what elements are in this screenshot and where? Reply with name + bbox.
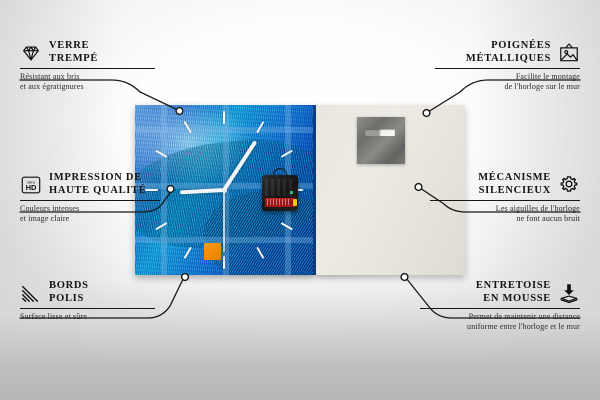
callout-divider (20, 308, 155, 309)
callout-divider (20, 68, 155, 69)
callout-title: VERRE TREMPÉ (49, 40, 98, 65)
callout-header: ENTRETOISE EN MOUSSE (420, 280, 580, 305)
callout-title: MÉCANISME SILENCIEUX (478, 172, 551, 197)
callout-header: BORDS POLIS (20, 280, 155, 305)
clock-center-pin (222, 188, 227, 193)
mechanism-indicator (290, 191, 293, 194)
callout-description: Résistant aux bris et aux égratignures (20, 72, 155, 92)
callout-header: VERRE TREMPÉ (20, 40, 155, 65)
callout-verre-trempe[interactable]: VERRE TREMPÉ Résistant aux bris et aux é… (20, 40, 155, 92)
foam-spacer (204, 243, 221, 260)
ultra-hd-icon: ultra HD (20, 174, 42, 196)
callout-title: BORDS POLIS (49, 280, 89, 305)
callout-poignees-metalliques[interactable]: POIGNÉES MÉTALLIQUES Facilite le montage… (435, 40, 580, 92)
callout-divider (435, 68, 580, 69)
callout-divider (430, 200, 580, 201)
callout-description: Permet de maintenir une distance uniform… (420, 312, 580, 332)
callout-description: Couleurs intenses et image claire (20, 204, 160, 224)
product-image (135, 105, 465, 275)
metal-hanger-plate (357, 117, 405, 164)
diamond-icon (20, 42, 42, 64)
battery-label (267, 199, 291, 205)
callout-divider (420, 308, 580, 309)
callout-mecanisme-silencieux[interactable]: MÉCANISME SILENCIEUX Les aiguilles de l'… (430, 172, 580, 224)
callout-description: Les aiguilles de l'horloge ne font aucun… (430, 204, 580, 224)
callout-description: Facilite le montage de l'horloge sur le … (435, 72, 580, 92)
callout-header: MÉCANISME SILENCIEUX (430, 172, 580, 197)
callout-description: Surface lisse et sûre (20, 312, 155, 322)
mechanism-hanger-loop (273, 168, 287, 178)
clock-second-hand (223, 190, 225, 252)
callout-header: POIGNÉES MÉTALLIQUES (435, 40, 580, 65)
clock-mechanism (262, 175, 298, 211)
callout-title: IMPRESSION DE HAUTE QUALITÉ (49, 172, 147, 197)
callout-bords-polis[interactable]: BORDS POLIS Surface lisse et sûre (20, 280, 155, 322)
callout-entretoise-en-mousse[interactable]: ENTRETOISE EN MOUSSE Permet de maintenir… (420, 280, 580, 332)
callout-title: POIGNÉES MÉTALLIQUES (466, 40, 551, 65)
callout-header: ultra HD IMPRESSION DE HAUTE QUALITÉ (20, 172, 160, 197)
gear-icon (558, 174, 580, 196)
svg-text:HD: HD (26, 183, 37, 192)
callout-impression-haute-qualite[interactable]: ultra HD IMPRESSION DE HAUTE QUALITÉ Cou… (20, 172, 160, 224)
callout-title: ENTRETOISE EN MOUSSE (476, 280, 551, 305)
battery (265, 198, 295, 207)
clock-tick (223, 111, 225, 124)
hanger-keyhole-slot (365, 129, 395, 136)
polished-edge-icon (20, 282, 42, 304)
infographic-canvas: VERRE TREMPÉ Résistant aux bris et aux é… (0, 0, 600, 400)
picture-hanger-icon (558, 42, 580, 64)
callout-divider (20, 200, 160, 201)
foam-spacer-icon (558, 282, 580, 304)
